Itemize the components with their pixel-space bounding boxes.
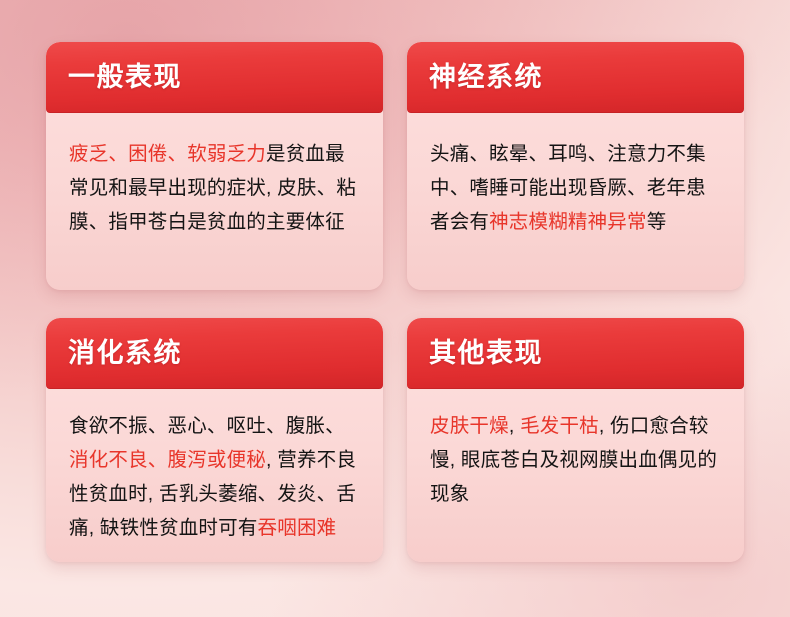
card-body-nervous: 头痛、眩晕、耳鸣、注意力不集中、嗜睡可能出现昏厥、老年患者会有神志模糊精神异常等 [407, 113, 744, 290]
body-phrase: 等 [647, 211, 667, 233]
card-title-general: 一般表现 [68, 64, 182, 91]
symptom-card-digestive: 消化系统 食欲不振、恶心、呕吐、腹胀、消化不良、腹泻或便秘, 营养不良性贫血时,… [46, 318, 383, 562]
card-body-digestive: 食欲不振、恶心、呕吐、腹胀、消化不良、腹泻或便秘, 营养不良性贫血时, 舌乳头萎… [46, 389, 383, 562]
highlight-phrase: 神志模糊精神异常 [489, 211, 647, 233]
card-body-other: 皮肤干燥, 毛发干枯, 伤口愈合较慢, 眼底苍白及视网膜出血偶见的现象 [407, 389, 744, 562]
highlight-phrase: 消化不良、腹泻或便秘 [69, 449, 266, 471]
body-phrase: , [509, 415, 520, 437]
card-text-general: 疲乏、困倦、软弱乏力是贫血最常见和最早出现的症状, 皮肤、粘膜、指甲苍白是贫血的… [69, 137, 361, 239]
card-title-nervous: 神经系统 [429, 64, 543, 91]
highlight-phrase: 吞咽困难 [258, 517, 337, 539]
symptom-card-grid: 一般表现 疲乏、困倦、软弱乏力是贫血最常见和最早出现的症状, 皮肤、粘膜、指甲苍… [46, 42, 744, 562]
card-text-nervous: 头痛、眩晕、耳鸣、注意力不集中、嗜睡可能出现昏厥、老年患者会有神志模糊精神异常等 [430, 137, 722, 239]
card-header-other: 其他表现 [407, 318, 744, 389]
symptom-card-general: 一般表现 疲乏、困倦、软弱乏力是贫血最常见和最早出现的症状, 皮肤、粘膜、指甲苍… [46, 42, 383, 290]
card-header-nervous: 神经系统 [407, 42, 744, 113]
card-text-digestive: 食欲不振、恶心、呕吐、腹胀、消化不良、腹泻或便秘, 营养不良性贫血时, 舌乳头萎… [69, 409, 361, 545]
highlight-phrase: 皮肤干燥 [430, 415, 509, 437]
infographic-page: 一般表现 疲乏、困倦、软弱乏力是贫血最常见和最早出现的症状, 皮肤、粘膜、指甲苍… [0, 0, 790, 617]
card-header-digestive: 消化系统 [46, 318, 383, 389]
card-body-general: 疲乏、困倦、软弱乏力是贫血最常见和最早出现的症状, 皮肤、粘膜、指甲苍白是贫血的… [46, 113, 383, 290]
highlight-phrase: 疲乏、困倦、软弱乏力 [69, 143, 266, 165]
card-header-general: 一般表现 [46, 42, 383, 113]
symptom-card-nervous: 神经系统 头痛、眩晕、耳鸣、注意力不集中、嗜睡可能出现昏厥、老年患者会有神志模糊… [407, 42, 744, 290]
card-title-other: 其他表现 [429, 340, 543, 367]
body-phrase: 食欲不振、恶心、呕吐、腹胀、 [69, 415, 345, 437]
card-title-digestive: 消化系统 [68, 340, 182, 367]
card-text-other: 皮肤干燥, 毛发干枯, 伤口愈合较慢, 眼底苍白及视网膜出血偶见的现象 [430, 409, 722, 511]
symptom-card-other: 其他表现 皮肤干燥, 毛发干枯, 伤口愈合较慢, 眼底苍白及视网膜出血偶见的现象 [407, 318, 744, 562]
highlight-phrase: 毛发干枯 [520, 415, 599, 437]
